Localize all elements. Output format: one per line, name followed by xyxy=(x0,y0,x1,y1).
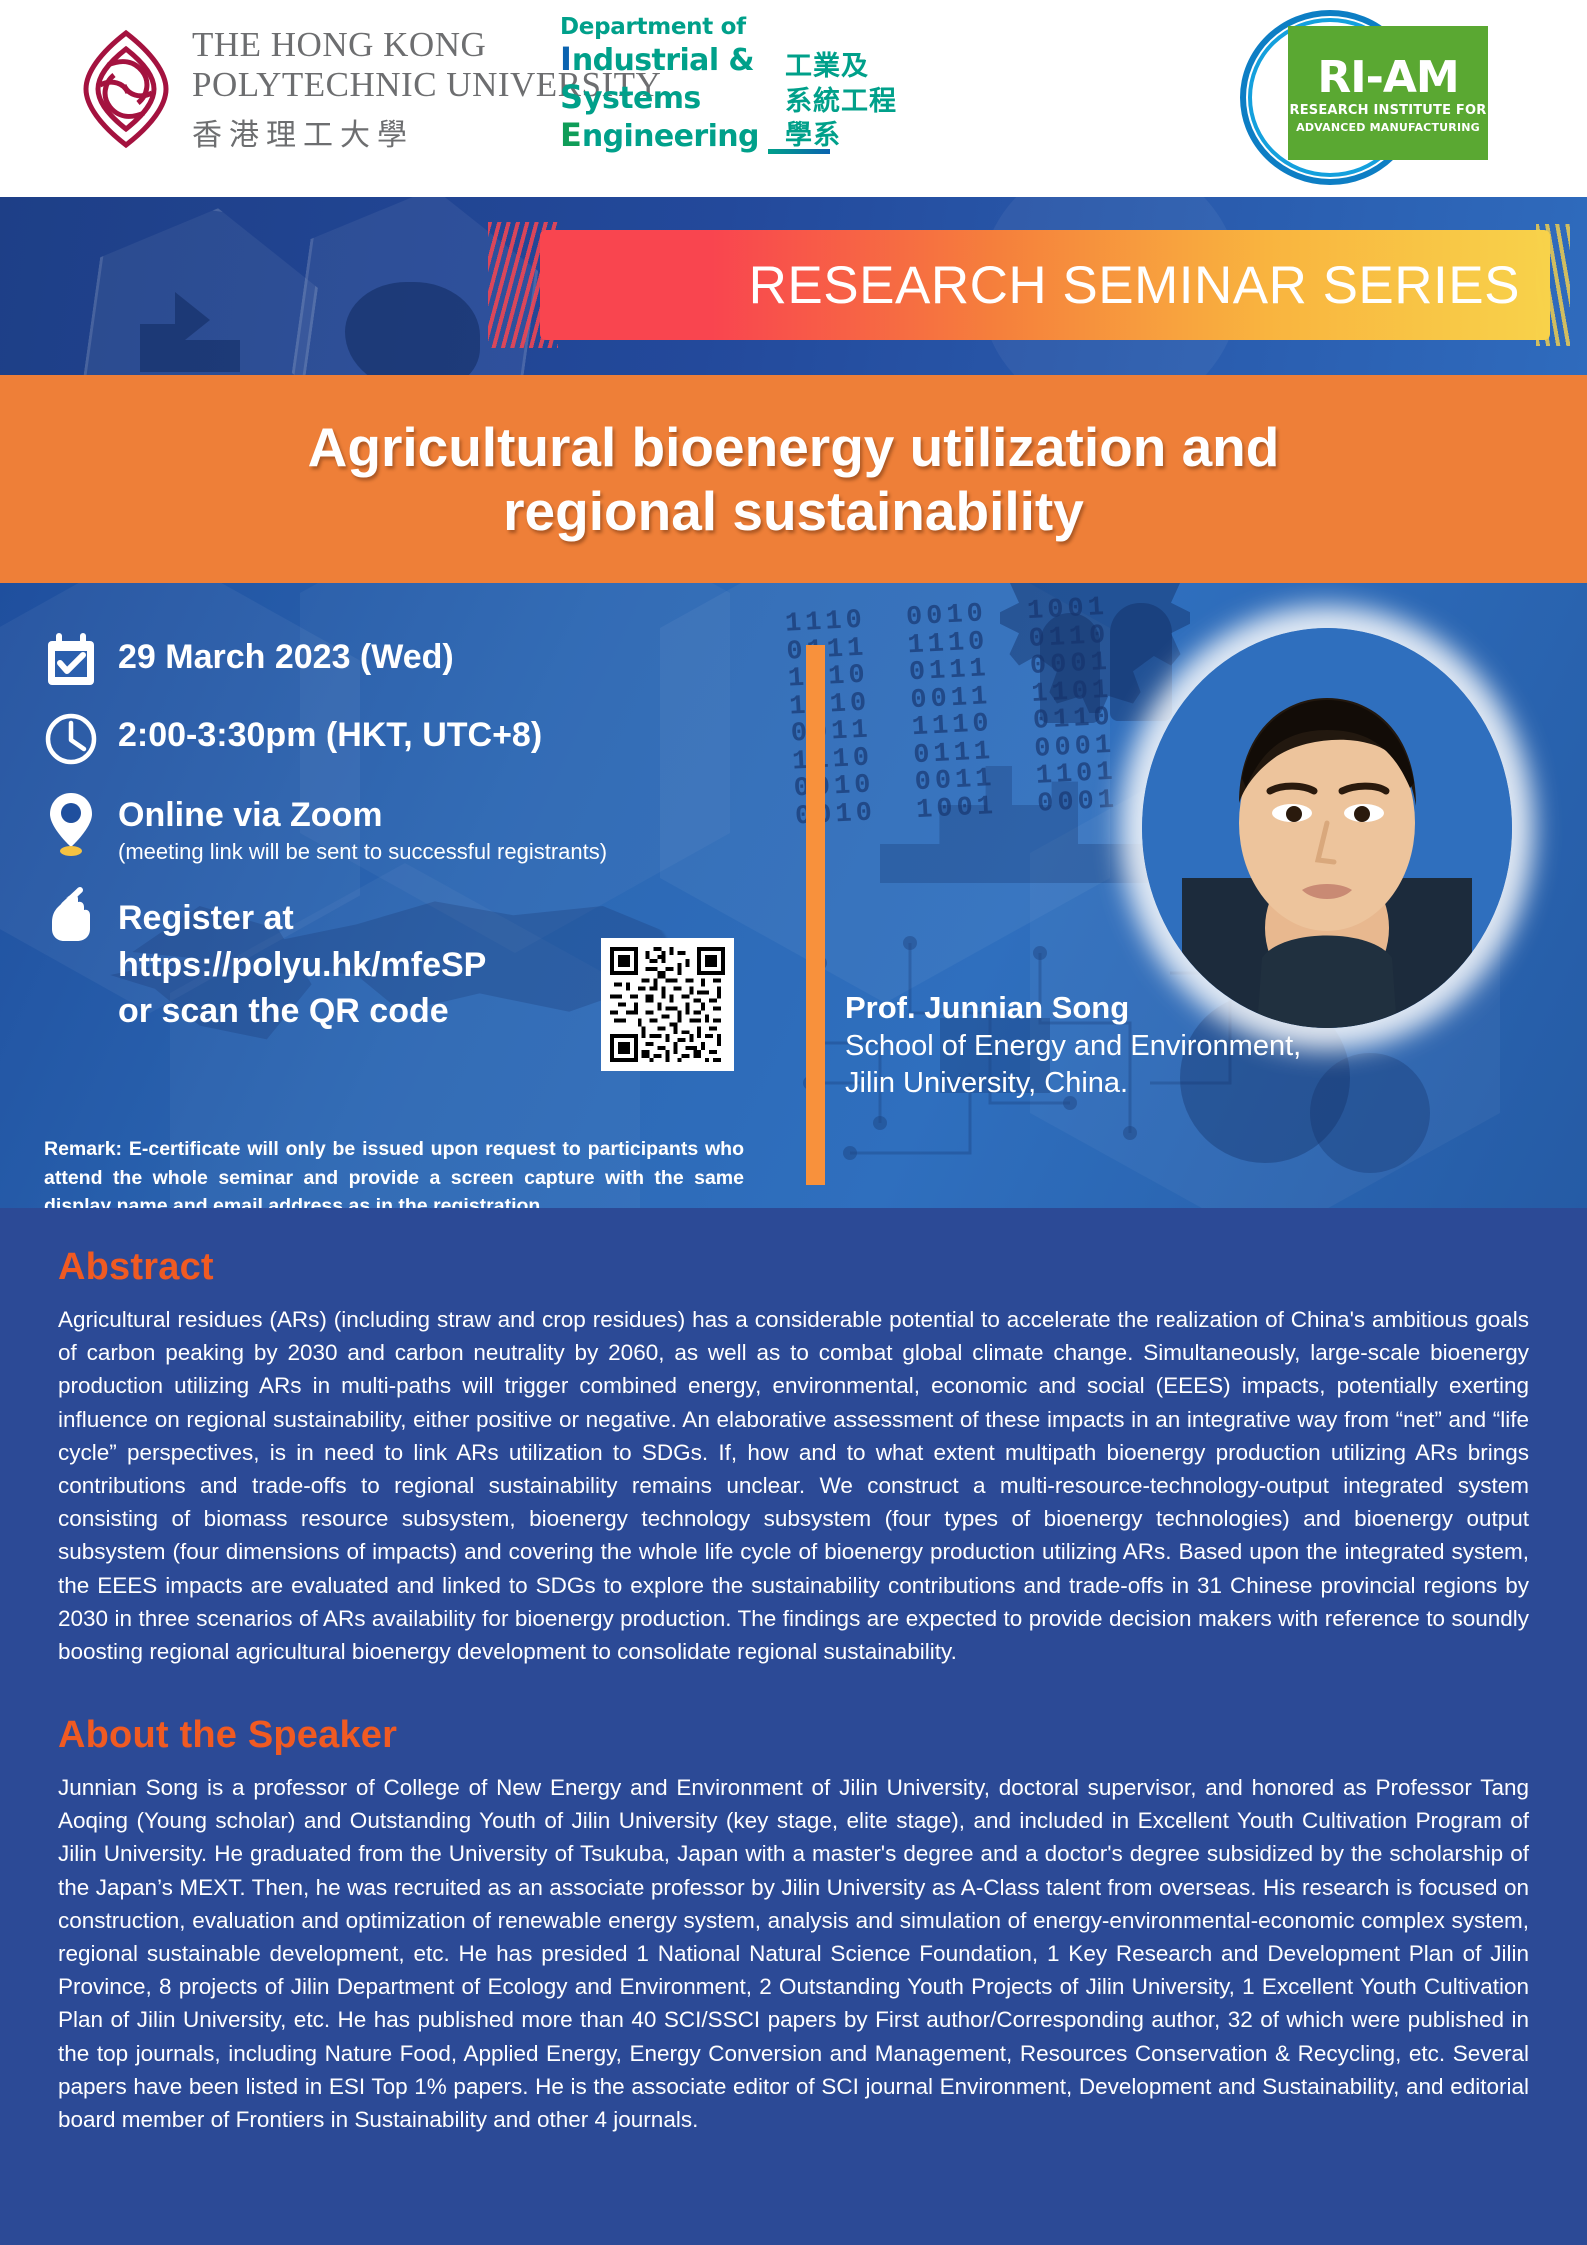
detail-row-date: 29 March 2023 (Wed) xyxy=(44,633,764,689)
event-venue: Online via Zoom xyxy=(118,795,607,836)
ise-divider-rule xyxy=(768,149,830,154)
clock-icon xyxy=(44,711,118,767)
registration-qr-code[interactable] xyxy=(601,938,734,1071)
riam-title: RI-AM xyxy=(1317,52,1458,103)
detail-date-text: 29 March 2023 (Wed) xyxy=(118,633,454,678)
detail-venue-text: Online via Zoom (meeting link will be se… xyxy=(118,791,607,865)
register-qr-hint: or scan the QR code xyxy=(118,988,486,1034)
riam-logo: RI-AM RESEARCH INSTITUTE FOR ADVANCED MA… xyxy=(1240,10,1490,185)
ise-department-of: Department of xyxy=(560,14,860,40)
location-pin-icon xyxy=(44,791,118,857)
ise-rest-industrial: ndustrial & xyxy=(572,43,754,78)
pointing-hand-icon xyxy=(44,885,118,945)
ise-cap-e: E xyxy=(560,116,582,154)
speaker-affiliation-line2: Jilin University, China. xyxy=(845,1065,1405,1102)
riam-green-plate: RI-AM RESEARCH INSTITUTE FOR ADVANCED MA… xyxy=(1288,26,1488,160)
calendar-check-icon xyxy=(44,633,118,689)
event-date: 29 March 2023 (Wed) xyxy=(118,637,454,678)
section-gap xyxy=(58,1668,1529,1714)
series-banner: RESEARCH SEMINAR SERIES xyxy=(0,197,1587,375)
speaker-name: Prof. Junnian Song xyxy=(845,988,1405,1028)
vertical-divider xyxy=(806,645,825,1185)
body-sections: Abstract Agricultural residues (ARs) (in… xyxy=(0,1208,1587,2245)
abstract-body: Agricultural residues (ARs) (including s… xyxy=(58,1303,1529,1668)
series-brush-stroke: RESEARCH SEMINAR SERIES xyxy=(540,230,1550,340)
seminar-title-line2: regional sustainability xyxy=(503,479,1084,543)
event-time: 2:00-3:30pm (HKT, UTC+8) xyxy=(118,715,542,756)
speaker-info: Prof. Junnian Song School of Energy and … xyxy=(845,988,1405,1102)
riam-subtitle-1: RESEARCH INSTITUTE FOR xyxy=(1290,103,1487,118)
abstract-heading: Abstract xyxy=(58,1246,1529,1289)
logo-bar: THE HONG KONG POLYTECHNIC UNIVERSITY 香港理… xyxy=(0,0,1587,197)
ise-zh-line2: 系統工程 xyxy=(785,85,897,120)
bg-binary-pattern: 1110 0010 1001 0111 1110 0110 1110 0111 … xyxy=(784,595,1125,832)
detail-time-text: 2:00-3:30pm (HKT, UTC+8) xyxy=(118,711,542,756)
polyu-crest-icon xyxy=(78,29,174,149)
register-url[interactable]: https://polyu.hk/mfeSP xyxy=(118,942,486,988)
event-venue-note: (meeting link will be sent to successful… xyxy=(118,838,607,866)
speaker-portrait xyxy=(1142,628,1512,1028)
detail-row-venue: Online via Zoom (meeting link will be se… xyxy=(44,791,764,865)
seminar-title-line1: Agricultural bioenergy utilization and xyxy=(308,415,1280,479)
ise-logo: Department of I ndustrial & S ystems E n… xyxy=(560,14,860,154)
seminar-title-strip: Agricultural bioenergy utilization and r… xyxy=(0,375,1587,583)
ise-rest-engineering: ngineering xyxy=(582,119,759,154)
ise-cap-s: S xyxy=(560,78,583,116)
ise-zh-line1: 工業及 xyxy=(785,50,897,85)
event-details-panel: 1110 0010 1001 0111 1110 0110 1110 0111 … xyxy=(0,583,1587,1208)
remark-text: Remark: E-certificate will only be issue… xyxy=(44,1135,744,1208)
speaker-bio-heading: About the Speaker xyxy=(58,1714,1529,1757)
speaker-bio-body: Junnian Song is a professor of College o… xyxy=(58,1771,1529,2136)
registration-block: Register at https://polyu.hk/mfeSP or sc… xyxy=(118,891,486,1034)
ise-cap-i: I xyxy=(560,40,572,78)
detail-row-time: 2:00-3:30pm (HKT, UTC+8) xyxy=(44,711,764,767)
register-label: Register at xyxy=(118,895,486,941)
ise-rest-systems: ystems xyxy=(583,81,701,116)
ise-name-zh: 工業及 系統工程 學系 xyxy=(785,50,897,154)
speaker-affiliation-line1: School of Energy and Environment, xyxy=(845,1028,1405,1065)
series-label: RESEARCH SEMINAR SERIES xyxy=(749,255,1550,316)
riam-subtitle-2: ADVANCED MANUFACTURING xyxy=(1296,121,1480,134)
